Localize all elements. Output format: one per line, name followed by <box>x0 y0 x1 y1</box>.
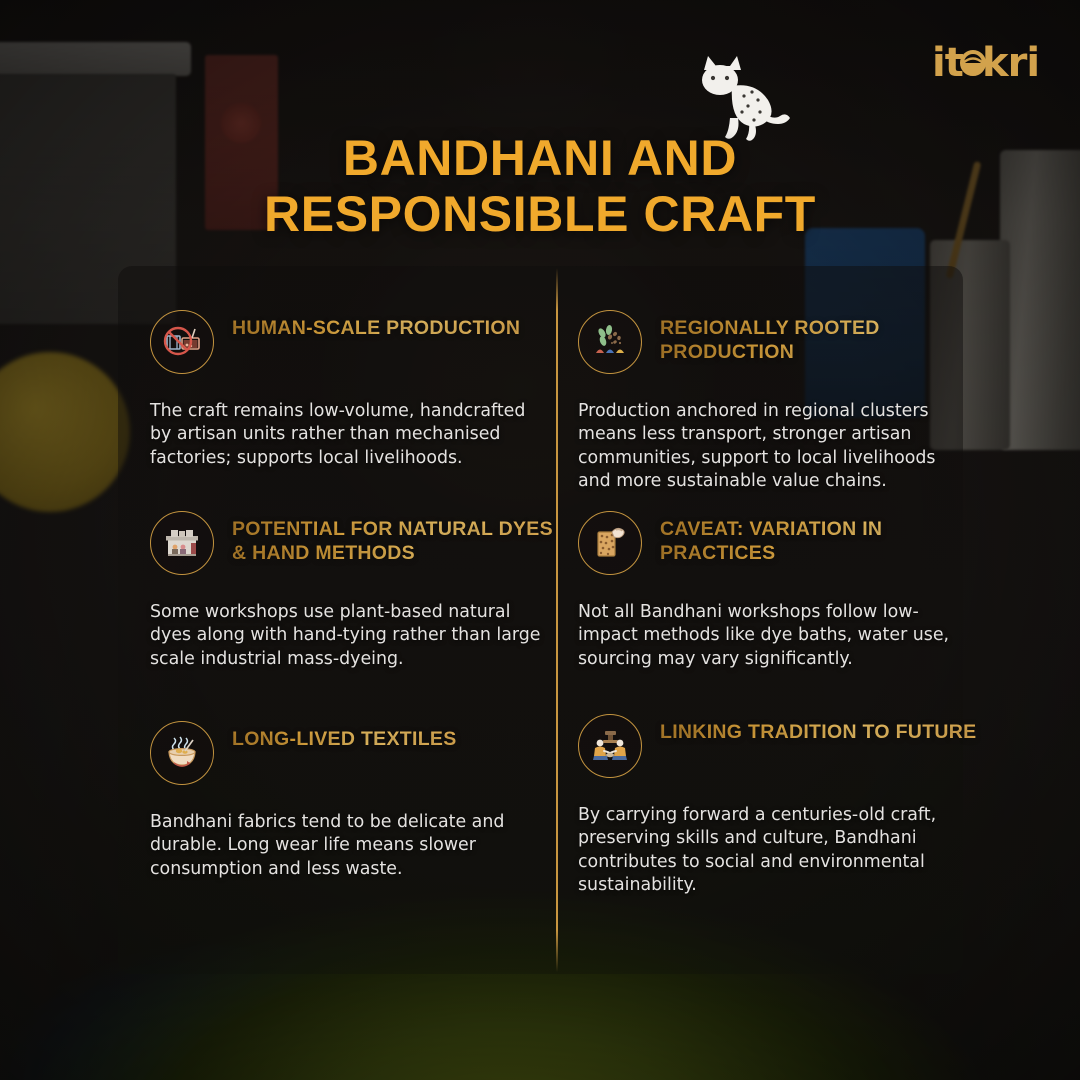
page-title: BANDHANI AND RESPONSIBLE CRAFT <box>0 130 1080 242</box>
steaming-dye-pot-icon <box>150 721 214 785</box>
item-body: The craft remains low-volume, handcrafte… <box>150 400 542 470</box>
two-artisans-seated-icon <box>578 714 642 778</box>
item-header: LONG-LIVED TEXTILES <box>150 721 570 785</box>
item-linking-tradition-to-future[interactable]: LINKING TRADITION TO FUTURE By carrying … <box>578 714 998 915</box>
item-title: REGIONALLY ROOTED PRODUCTION <box>660 310 998 365</box>
infographic-canvas: it kri itokri BANDHANI AND RESPONSIBLE C… <box>0 0 1080 1080</box>
brand-logo: it kri itokri <box>932 40 1040 86</box>
item-body: Not all Bandhani workshops follow low-im… <box>578 601 970 671</box>
items-grid: HUMAN-SCALE PRODUCTION The craft remains… <box>118 266 963 974</box>
item-body: Bandhani fabrics tend to be delicate and… <box>150 811 542 881</box>
artisan-workshop-building-icon <box>150 511 214 575</box>
hand-holding-patterned-fabric-icon <box>578 511 642 575</box>
item-regionally-rooted-production[interactable]: REGIONALLY ROOTED PRODUCTION Production … <box>578 310 998 511</box>
no-factory-machine-icon <box>150 310 214 374</box>
item-header: HUMAN-SCALE PRODUCTION <box>150 310 570 374</box>
item-header: POTENTIAL FOR NATURAL DYES & HAND METHOD… <box>150 511 570 575</box>
item-header: REGIONALLY ROOTED PRODUCTION <box>578 310 998 374</box>
item-title: HUMAN-SCALE PRODUCTION <box>232 310 520 340</box>
item-long-lived-textiles[interactable]: LONG-LIVED TEXTILES Bandhani fabrics ten… <box>150 721 570 899</box>
svg-text:it: it <box>932 40 964 86</box>
item-title: CAVEAT: VARIATION IN PRACTICES <box>660 511 998 566</box>
left-column: HUMAN-SCALE PRODUCTION The craft remains… <box>150 266 570 974</box>
item-body: By carrying forward a centuries-old craf… <box>578 804 970 898</box>
item-title: LONG-LIVED TEXTILES <box>232 721 457 751</box>
item-natural-dyes-hand-methods[interactable]: POTENTIAL FOR NATURAL DYES & HAND METHOD… <box>150 511 570 689</box>
item-title: LINKING TRADITION TO FUTURE <box>660 714 976 744</box>
right-column: REGIONALLY ROOTED PRODUCTION Production … <box>578 266 998 974</box>
leaves-and-dye-powders-icon <box>578 310 642 374</box>
svg-text:kri: kri <box>982 40 1039 86</box>
itokri-logo-icon: it kri <box>932 40 1040 86</box>
item-body: Production anchored in regional clusters… <box>578 400 970 494</box>
item-caveat-variation-in-practices[interactable]: CAVEAT: VARIATION IN PRACTICES Not all B… <box>578 511 998 689</box>
item-header: LINKING TRADITION TO FUTURE <box>578 714 998 778</box>
item-human-scale-production[interactable]: HUMAN-SCALE PRODUCTION The craft remains… <box>150 310 570 488</box>
item-title: POTENTIAL FOR NATURAL DYES & HAND METHOD… <box>232 511 570 566</box>
item-body: Some workshops use plant-based natural d… <box>150 601 542 671</box>
item-header: CAVEAT: VARIATION IN PRACTICES <box>578 511 998 575</box>
